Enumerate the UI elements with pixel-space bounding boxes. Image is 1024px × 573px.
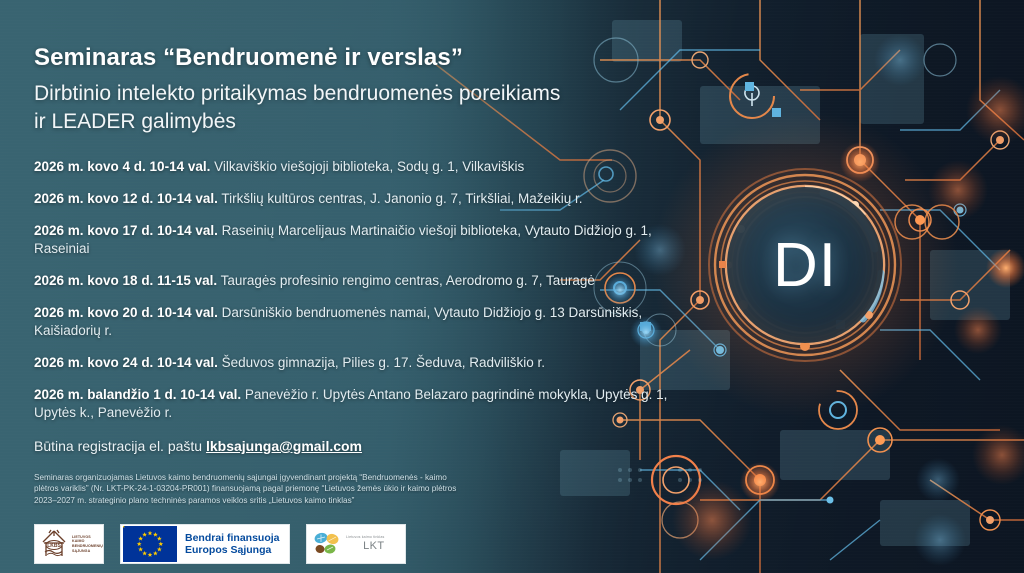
event-datetime: 2026 m. kovo 24 d. 10-14 val. [34, 355, 218, 370]
event-datetime: 2026 m. balandžio 1 d. 10-14 val. [34, 387, 241, 402]
eu-flag-icon [123, 526, 177, 562]
registration-note: Būtina registracija el. paštu lkbsajunga… [34, 438, 674, 454]
eu-funding-wordmark: Bendrai finansuoja Europos Sąjunga [185, 532, 280, 557]
eu-funding-line-2: Europos Sąjunga [185, 544, 280, 557]
di-emblem: DI [705, 165, 905, 365]
event-location: Tauragės profesinio rengimo centras, Aer… [217, 273, 595, 288]
funding-disclaimer: Seminaras organizuojamas Lietuvos kaimo … [34, 472, 554, 506]
content-column: Seminaras “Bendruomenė ir verslas” Dirbt… [34, 0, 684, 573]
event-datetime: 2026 m. kovo 4 d. 10-14 val. [34, 159, 210, 174]
logo-strip: LKBS LIETUVOS KAIMO BENDRUOMENIŲ SĄJUNGA [34, 524, 406, 564]
event-location: Šeduvos gimnazija, Pilies g. 17. Šeduva,… [218, 355, 545, 370]
event-datetime: 2026 m. kovo 18 d. 11-15 val. [34, 273, 217, 288]
di-emblem-label: DI [705, 165, 905, 365]
lkbs-word-3: BENDRUOMENIŲ [72, 544, 103, 549]
event-item: 2026 m. kovo 17 d. 10-14 val. Raseinių M… [34, 222, 679, 258]
poster-subtitle-line-1: Dirbtinio intelekto pritaikymas bendruom… [34, 80, 674, 108]
event-datetime: 2026 m. kovo 20 d. 10-14 val. [34, 305, 218, 320]
event-location: Tirkšlių kultūros centras, J. Janonio g.… [218, 191, 583, 206]
event-datetime: 2026 m. kovo 17 d. 10-14 val. [34, 223, 218, 238]
poster-subtitle-line-2: ir LEADER galimybės [34, 108, 674, 136]
svg-text:LKBS: LKBS [47, 543, 61, 549]
lkt-subtitle: Lietuvos kaimo tinklas [346, 536, 384, 540]
event-item: 2026 m. kovo 24 d. 10-14 val. Šeduvos gi… [34, 354, 679, 372]
event-list: 2026 m. kovo 4 d. 10-14 val. Vilkaviškio… [34, 158, 679, 436]
logo-lkbs: LKBS LIETUVOS KAIMO BENDRUOMENIŲ SĄJUNGA [34, 524, 104, 564]
funding-disclaimer-line-3: 2023–2027 m. strateginio plano techninės… [34, 495, 554, 506]
registration-email-link[interactable]: lkbsajunga@gmail.com [206, 438, 362, 454]
event-item: 2026 m. balandžio 1 d. 10-14 val. Panevė… [34, 386, 679, 422]
event-datetime: 2026 m. kovo 12 d. 10-14 val. [34, 191, 218, 206]
lkbs-word-4: SĄJUNGA [72, 549, 103, 554]
event-item: 2026 m. kovo 20 d. 10-14 val. Darsūniški… [34, 304, 679, 340]
funding-disclaimer-line-2: plėtros variklis” (Nr. LKT-PK-24-1-03204… [34, 483, 554, 494]
lkt-leaf-icon [312, 530, 342, 558]
logo-european-union: Bendrai finansuoja Europos Sąjunga [120, 524, 290, 564]
logo-lkt: Lietuvos kaimo tinklas LKT [306, 524, 406, 564]
event-item: 2026 m. kovo 18 d. 11-15 val. Tauragės p… [34, 272, 679, 290]
event-item: 2026 m. kovo 12 d. 10-14 val. Tirkšlių k… [34, 190, 679, 208]
lkt-wordmark: Lietuvos kaimo tinklas LKT [346, 536, 384, 553]
poster-subtitle: Dirbtinio intelekto pritaikymas bendruom… [34, 80, 674, 136]
registration-text: Būtina registracija el. paštu [34, 438, 206, 454]
poster-canvas: DI Seminaras “Bendruomenė ir verslas” Di… [0, 0, 1024, 573]
event-item: 2026 m. kovo 4 d. 10-14 val. Vilkaviškio… [34, 158, 679, 176]
funding-disclaimer-line-1: Seminaras organizuojamas Lietuvos kaimo … [34, 472, 554, 483]
eu-funding-line-1: Bendrai finansuoja [185, 532, 280, 545]
lkbs-wordmark: LIETUVOS KAIMO BENDRUOMENIŲ SĄJUNGA [72, 535, 103, 553]
lkt-acronym: LKT [363, 541, 384, 552]
lkbs-emblem-icon: LKBS [39, 528, 69, 560]
poster-title: Seminaras “Bendruomenė ir verslas” [34, 44, 674, 72]
event-location: Vilkaviškio viešojoji biblioteka, Sodų g… [210, 159, 524, 174]
